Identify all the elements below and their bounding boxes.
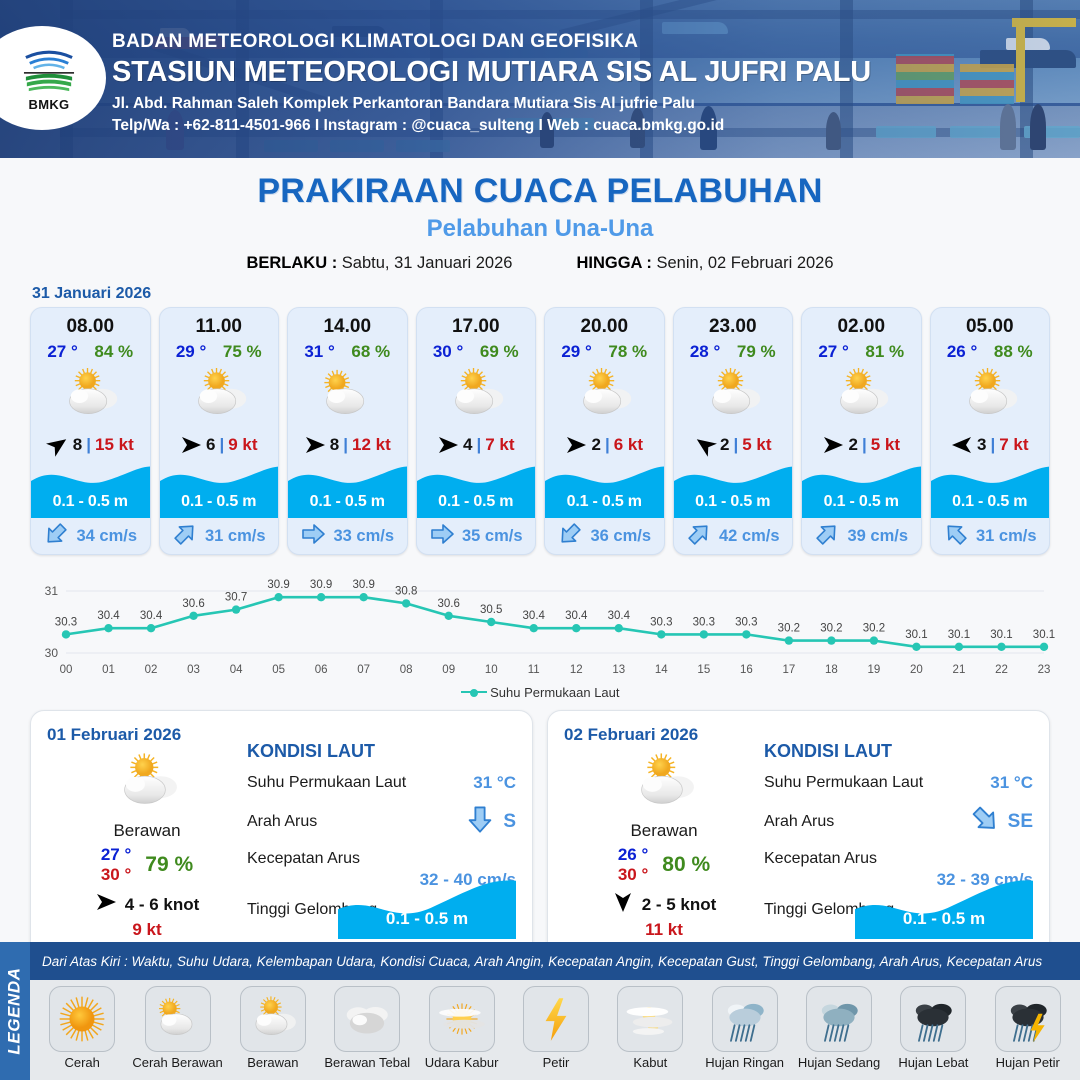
svg-text:01: 01 <box>102 664 115 676</box>
card-temperature: 29 ° <box>561 342 591 362</box>
sea-row-value: 31 °C <box>473 773 516 793</box>
sea-conditions-title: KONDISI LAUT <box>247 741 516 762</box>
header-text-block: BADAN METEOROLOGI KLIMATOLOGI DAN GEOFIS… <box>112 30 871 137</box>
sea-row-label: Kecepatan Arus <box>764 850 877 868</box>
bmkg-logo-mark <box>20 44 78 96</box>
thunderstorm-rain-icon <box>995 986 1061 1052</box>
sea-row-current-direction: Arah Arus SE <box>764 804 1033 839</box>
svg-text:23: 23 <box>1038 664 1051 676</box>
card-current: 34 cm/s <box>31 518 150 554</box>
legend-item: Hujan Sedang <box>795 986 883 1070</box>
legend-sidebar-label: LEGENDA <box>5 967 25 1054</box>
current-direction-arrow-icon <box>557 521 583 552</box>
svg-text:30.4: 30.4 <box>140 610 163 622</box>
legend-item-label: Berawan Tebal <box>324 1055 410 1070</box>
current-speed-value: 31 cm/s <box>205 527 266 546</box>
sea-row-sst: Suhu Permukaan Laut 31 °C <box>764 773 1033 793</box>
hingga: HINGGA : Senin, 02 Februari 2026 <box>576 254 833 273</box>
berlaku-label: BERLAKU : <box>246 254 337 272</box>
chart-legend-label: Suhu Permukaan Laut <box>490 685 619 700</box>
clouds-icon <box>334 986 400 1052</box>
current-speed-value: 42 cm/s <box>719 527 780 546</box>
weather-icon <box>288 362 407 428</box>
card-time: 11.00 <box>160 308 279 338</box>
legend-item: Hujan Petir <box>984 986 1072 1070</box>
card-current: 31 cm/s <box>160 518 279 554</box>
day-temp-max: 30 ° <box>101 865 131 885</box>
moderate-rain-icon <box>806 986 872 1052</box>
weather-icon <box>160 362 279 428</box>
wind-gust-value: 9 kt <box>228 435 257 455</box>
svg-text:20: 20 <box>910 664 923 676</box>
card-current: 33 cm/s <box>288 518 407 554</box>
svg-text:00: 00 <box>60 664 73 676</box>
card-temp-hum: 27 ° 84 % <box>31 338 150 362</box>
day-temp-min: 27 ° <box>101 845 131 865</box>
sea-row-sst: Suhu Permukaan Laut 31 °C <box>247 773 516 793</box>
wind-direction-arrow-icon <box>951 436 973 454</box>
svg-text:30.6: 30.6 <box>182 598 204 610</box>
agency-name: BADAN METEOROLOGI KLIMATOLOGI DAN GEOFIS… <box>112 30 871 54</box>
sea-row-label: Arah Arus <box>764 813 834 831</box>
sea-row-label: Kecepatan Arus <box>247 850 360 868</box>
day-wave-block: 0.1 - 0.5 m <box>338 877 516 939</box>
day-card-right: KONDISI LAUT Suhu Permukaan Laut 31 °C A… <box>247 725 516 941</box>
weather-icon <box>931 362 1050 428</box>
svg-text:15: 15 <box>697 664 710 676</box>
sea-temperature-chart: 303130.30030.40130.40230.60330.70430.905… <box>20 565 1060 683</box>
heavy-rain-icon <box>900 986 966 1052</box>
card-wind: 2 | 5 kt <box>802 428 921 462</box>
day-temp-max: 30 ° <box>618 865 648 885</box>
wind-gust-value: 7 kt <box>485 435 514 455</box>
svg-text:30.4: 30.4 <box>565 610 588 622</box>
card-humidity: 84 % <box>94 342 133 362</box>
svg-text:30: 30 <box>45 646 59 660</box>
card-temp-hum: 31 ° 68 % <box>288 338 407 362</box>
svg-text:30.4: 30.4 <box>523 610 546 622</box>
current-direction-arrow-icon <box>43 521 69 552</box>
wind-separator: | <box>86 435 91 455</box>
wind-separator: | <box>990 435 995 455</box>
wave-height-value: 0.1 - 0.5 m <box>931 493 1050 511</box>
card-temperature: 27 ° <box>47 342 77 362</box>
wind-gust-value: 7 kt <box>999 435 1028 455</box>
sea-row-value: 31 °C <box>990 773 1033 793</box>
current-speed-value: 34 cm/s <box>76 527 137 546</box>
day-wind: 2 - 5 knot <box>564 893 764 916</box>
svg-text:11: 11 <box>528 664 540 676</box>
svg-text:30.9: 30.9 <box>352 579 374 591</box>
card-time: 14.00 <box>288 308 407 338</box>
station-name: STASIUN METEOROLOGI MUTIARA SIS AL JUFRI… <box>112 55 871 89</box>
card-wave: 0.1 - 0.5 m <box>802 462 921 518</box>
day-weather-icon <box>564 747 764 819</box>
wind-direction-value: 4 <box>463 435 472 455</box>
day-wave-value: 0.1 - 0.5 m <box>338 909 516 929</box>
card-wind: 2 | 6 kt <box>545 428 664 462</box>
wind-separator: | <box>219 435 224 455</box>
legend-items-row: Cerah Cerah Berawan <box>30 980 1080 1080</box>
svg-text:30.9: 30.9 <box>267 579 289 591</box>
svg-text:09: 09 <box>442 664 455 676</box>
card-temperature: 29 ° <box>176 342 206 362</box>
legend-item-label: Udara Kabur <box>425 1055 499 1070</box>
legend-item: Hujan Lebat <box>889 986 977 1070</box>
svg-text:06: 06 <box>315 664 328 676</box>
sea-row-current-direction: Arah Arus S <box>247 804 516 839</box>
current-direction-arrow-icon <box>300 521 326 552</box>
svg-text:30.1: 30.1 <box>1033 629 1055 641</box>
legend-item-label: Hujan Sedang <box>798 1055 880 1070</box>
card-wind: 2 | 5 kt <box>674 428 793 462</box>
forecast-card: 02.00 27 ° 81 % 2 | 5 kt 0 <box>801 307 922 555</box>
card-humidity: 69 % <box>480 342 519 362</box>
forecast-card: 14.00 31 ° 68 % 8 | 12 kt <box>287 307 408 555</box>
legend-item: Berawan Tebal <box>323 986 411 1070</box>
card-temperature: 28 ° <box>690 342 720 362</box>
current-direction-arrow-icon <box>814 521 840 552</box>
card-current: 42 cm/s <box>674 518 793 554</box>
wind-separator: | <box>605 435 610 455</box>
card-time: 08.00 <box>31 308 150 338</box>
sea-conditions-title: KONDISI LAUT <box>764 741 1033 762</box>
wind-direction-arrow-icon <box>565 436 587 454</box>
legend-item-label: Hujan Petir <box>996 1055 1060 1070</box>
card-time: 17.00 <box>417 308 536 338</box>
current-direction-arrow-icon <box>970 804 1000 839</box>
svg-text:30.3: 30.3 <box>735 616 757 628</box>
wind-direction-arrow-icon <box>304 436 326 454</box>
validity-period: BERLAKU : Sabtu, 31 Januari 2026 HINGGA … <box>0 254 1080 273</box>
forecast-card: 23.00 28 ° 79 % 2 | 5 kt 0 <box>673 307 794 555</box>
card-wave: 0.1 - 0.5 m <box>160 462 279 518</box>
day-temp-min: 26 ° <box>618 845 648 865</box>
svg-text:02: 02 <box>145 664 158 676</box>
legend-item-label: Cerah Berawan <box>132 1055 222 1070</box>
day-date: 02 Februari 2026 <box>564 725 764 745</box>
svg-text:12: 12 <box>570 664 583 676</box>
station-address: Jl. Abd. Rahman Saleh Komplek Perkantora… <box>112 93 871 115</box>
sea-row-label: Arah Arus <box>247 813 317 831</box>
legend-item-label: Cerah <box>64 1055 99 1070</box>
svg-text:30.1: 30.1 <box>990 629 1012 641</box>
day-date: 01 Februari 2026 <box>47 725 247 745</box>
card-humidity: 78 % <box>608 342 647 362</box>
card-time: 23.00 <box>674 308 793 338</box>
station-contact: Telp/Wa : +62-811-4501-966 I Instagram :… <box>112 115 871 137</box>
current-speed-value: 35 cm/s <box>462 527 523 546</box>
wind-direction-value: 2 <box>591 435 600 455</box>
legend-item: Berawan <box>229 986 317 1070</box>
card-wave: 0.1 - 0.5 m <box>931 462 1050 518</box>
svg-text:30.2: 30.2 <box>820 623 842 635</box>
card-temp-hum: 28 ° 79 % <box>674 338 793 362</box>
current-speed-value: 31 cm/s <box>976 527 1037 546</box>
legend-item: Cerah <box>38 986 126 1070</box>
card-temp-hum: 26 ° 88 % <box>931 338 1050 362</box>
forecast-card: 08.00 27 ° 84 % 8 | 15 kt <box>30 307 151 555</box>
day-wind-direction-arrow-icon <box>95 893 117 916</box>
day-temps: 26 ° 30 ° 80 % <box>564 845 764 885</box>
svg-text:17: 17 <box>782 664 795 676</box>
card-humidity: 68 % <box>351 342 390 362</box>
day-forecast-card: 02 Februari 2026 Berawan 26 ° 30 ° 80 % <box>547 710 1050 956</box>
wave-height-value: 0.1 - 0.5 m <box>674 493 793 511</box>
legend-item: Cerah Berawan <box>132 986 222 1070</box>
day-card-right: KONDISI LAUT Suhu Permukaan Laut 31 °C A… <box>764 725 1033 941</box>
wind-separator: | <box>733 435 738 455</box>
svg-text:30.2: 30.2 <box>778 623 800 635</box>
berlaku: BERLAKU : Sabtu, 31 Januari 2026 <box>246 254 512 273</box>
port-name: Pelabuhan Una-Una <box>0 215 1080 243</box>
wind-gust-value: 15 kt <box>95 435 134 455</box>
day-wave-block: 0.1 - 0.5 m <box>855 877 1033 939</box>
sea-row-current-speed: Kecepatan Arus <box>247 850 516 868</box>
wind-direction-value: 3 <box>977 435 986 455</box>
sea-row-label: Suhu Permukaan Laut <box>764 774 923 792</box>
card-current: 36 cm/s <box>545 518 664 554</box>
card-wind: 6 | 9 kt <box>160 428 279 462</box>
card-temperature: 30 ° <box>433 342 463 362</box>
card-time: 20.00 <box>545 308 664 338</box>
day-condition: Berawan <box>564 821 764 841</box>
svg-text:19: 19 <box>868 664 881 676</box>
current-direction-arrow-icon <box>943 521 969 552</box>
legend-item: Kabut <box>606 986 694 1070</box>
wave-height-value: 0.1 - 0.5 m <box>160 493 279 511</box>
svg-text:30.3: 30.3 <box>55 616 77 628</box>
card-wave: 0.1 - 0.5 m <box>674 462 793 518</box>
day-wind: 4 - 6 knot <box>47 893 247 916</box>
svg-text:31: 31 <box>45 584 59 598</box>
haze-sun-icon <box>429 986 495 1052</box>
card-humidity: 79 % <box>737 342 776 362</box>
day-wind-direction-arrow-icon <box>612 893 634 916</box>
card-temp-hum: 27 ° 81 % <box>802 338 921 362</box>
legend-item: Udara Kabur <box>417 986 505 1070</box>
wave-height-value: 0.1 - 0.5 m <box>31 493 150 511</box>
forecast-date-label: 31 Januari 2026 <box>32 285 1080 303</box>
wind-separator: | <box>862 435 867 455</box>
wind-direction-value: 8 <box>73 435 82 455</box>
chart-legend: Suhu Permukaan Laut <box>0 685 1080 700</box>
wind-gust-value: 5 kt <box>742 435 771 455</box>
svg-text:30.2: 30.2 <box>863 623 885 635</box>
wind-direction-arrow-icon <box>180 436 202 454</box>
day-wind-speed: 4 - 6 knot <box>125 895 200 915</box>
card-humidity: 75 % <box>223 342 262 362</box>
current-direction-arrow-icon <box>172 521 198 552</box>
forecast-infographic: BMKG BADAN METEOROLOGI KLIMATOLOGI DAN G… <box>0 0 1080 1080</box>
wave-height-value: 0.1 - 0.5 m <box>417 493 536 511</box>
wind-direction-value: 6 <box>206 435 215 455</box>
legend-item-label: Petir <box>543 1055 570 1070</box>
card-wind: 4 | 7 kt <box>417 428 536 462</box>
current-speed-value: 36 cm/s <box>590 527 651 546</box>
wave-height-value: 0.1 - 0.5 m <box>802 493 921 511</box>
svg-text:07: 07 <box>357 664 370 676</box>
day-humidity: 80 % <box>662 853 710 877</box>
forecast-card: 05.00 26 ° 88 % 3 | 7 kt 0 <box>930 307 1051 555</box>
day-card-left: 02 Februari 2026 Berawan 26 ° 30 ° 80 % <box>564 725 764 941</box>
chart-canvas: 303130.30030.40130.40230.60330.70430.905… <box>20 565 1060 683</box>
card-temp-hum: 30 ° 69 % <box>417 338 536 362</box>
hingga-label: HINGGA : <box>576 254 651 272</box>
current-direction-arrow-icon <box>465 804 495 839</box>
svg-text:30.7: 30.7 <box>225 592 247 604</box>
current-direction-arrow-icon <box>686 521 712 552</box>
hingga-value: Senin, 02 Februari 2026 <box>657 254 834 272</box>
svg-text:30.3: 30.3 <box>650 616 672 628</box>
wind-gust-value: 6 kt <box>614 435 643 455</box>
berlaku-value: Sabtu, 31 Januari 2026 <box>342 254 513 272</box>
light-rain-icon <box>712 986 778 1052</box>
bmkg-logo-text: BMKG <box>29 97 70 112</box>
card-current: 39 cm/s <box>802 518 921 554</box>
wind-separator: | <box>343 435 348 455</box>
card-time: 05.00 <box>931 308 1050 338</box>
wave-height-value: 0.1 - 0.5 m <box>545 493 664 511</box>
card-time: 02.00 <box>802 308 921 338</box>
svg-text:30.4: 30.4 <box>97 610 120 622</box>
wind-separator: | <box>476 435 481 455</box>
fog-icon <box>617 986 683 1052</box>
day-humidity: 79 % <box>145 853 193 877</box>
card-temperature: 31 ° <box>304 342 334 362</box>
forecast-card: 17.00 30 ° 69 % 4 | 7 kt 0 <box>416 307 537 555</box>
svg-text:04: 04 <box>230 664 243 676</box>
lightning-icon <box>523 986 589 1052</box>
day-gust: 9 kt <box>47 920 247 940</box>
day-wind-speed: 2 - 5 knot <box>642 895 717 915</box>
day-forecast-card: 01 Februari 2026 Berawan 27 ° 30 ° 79 % <box>30 710 533 956</box>
svg-text:30.3: 30.3 <box>693 616 715 628</box>
card-wave: 0.1 - 0.5 m <box>288 462 407 518</box>
svg-text:03: 03 <box>187 664 200 676</box>
cloud-sun-icon <box>240 986 306 1052</box>
wind-gust-value: 5 kt <box>871 435 900 455</box>
wind-direction-value: 2 <box>848 435 857 455</box>
svg-text:30.6: 30.6 <box>438 598 460 610</box>
card-current: 31 cm/s <box>931 518 1050 554</box>
weather-icon <box>417 362 536 428</box>
card-wave: 0.1 - 0.5 m <box>417 462 536 518</box>
legend-item-label: Berawan <box>247 1055 298 1070</box>
svg-text:30.9: 30.9 <box>310 579 332 591</box>
weather-icon <box>31 362 150 428</box>
svg-text:05: 05 <box>272 664 285 676</box>
card-wind: 3 | 7 kt <box>931 428 1050 462</box>
card-wave: 0.1 - 0.5 m <box>545 462 664 518</box>
svg-text:21: 21 <box>953 664 966 676</box>
card-humidity: 81 % <box>865 342 904 362</box>
weather-icon <box>674 362 793 428</box>
day-wave-value: 0.1 - 0.5 m <box>855 909 1033 929</box>
wind-direction-arrow-icon <box>437 436 459 454</box>
wind-direction-arrow-icon <box>47 436 69 454</box>
sea-row-label: Suhu Permukaan Laut <box>247 774 406 792</box>
card-temperature: 26 ° <box>947 342 977 362</box>
card-wind: 8 | 15 kt <box>31 428 150 462</box>
sea-row-value: SE <box>1008 811 1033 833</box>
forecast-card: 20.00 29 ° 78 % 2 | 6 kt 0 <box>544 307 665 555</box>
page-header: BMKG BADAN METEOROLOGI KLIMATOLOGI DAN G… <box>0 0 1080 158</box>
svg-text:10: 10 <box>485 664 498 676</box>
svg-text:16: 16 <box>740 664 753 676</box>
wind-direction-arrow-icon <box>694 436 716 454</box>
title-block: PRAKIRAAN CUACA PELABUHAN Pelabuhan Una-… <box>0 172 1080 273</box>
current-speed-value: 33 cm/s <box>333 527 394 546</box>
day-weather-icon <box>47 747 247 819</box>
card-humidity: 88 % <box>994 342 1033 362</box>
sea-row-current-speed: Kecepatan Arus <box>764 850 1033 868</box>
card-temperature: 27 ° <box>818 342 848 362</box>
weather-icon <box>545 362 664 428</box>
legend-item-label: Kabut <box>633 1055 667 1070</box>
legend-sidebar: LEGENDA <box>0 942 30 1080</box>
current-direction-arrow-icon <box>429 521 455 552</box>
wind-direction-arrow-icon <box>822 436 844 454</box>
card-wave: 0.1 - 0.5 m <box>31 462 150 518</box>
page-title: PRAKIRAAN CUACA PELABUHAN <box>0 172 1080 211</box>
hourly-forecast-row: 08.00 27 ° 84 % 8 | 15 kt <box>0 307 1080 555</box>
svg-text:30.5: 30.5 <box>480 604 502 616</box>
svg-text:30.1: 30.1 <box>905 629 927 641</box>
day-condition: Berawan <box>47 821 247 841</box>
current-speed-value: 39 cm/s <box>847 527 908 546</box>
svg-text:18: 18 <box>825 664 838 676</box>
card-current: 35 cm/s <box>417 518 536 554</box>
wind-gust-value: 12 kt <box>352 435 391 455</box>
weather-icon <box>802 362 921 428</box>
legend-item-label: Hujan Lebat <box>898 1055 968 1070</box>
legend-note: Dari Atas Kiri : Waktu, Suhu Udara, Kele… <box>30 942 1080 980</box>
sea-row-value: S <box>503 811 516 833</box>
legend-item: Petir <box>512 986 600 1070</box>
wind-direction-value: 2 <box>720 435 729 455</box>
svg-text:08: 08 <box>400 664 413 676</box>
card-wind: 8 | 12 kt <box>288 428 407 462</box>
svg-text:22: 22 <box>995 664 1008 676</box>
legend-item-label: Hujan Ringan <box>705 1055 784 1070</box>
sun-icon <box>49 986 115 1052</box>
wave-height-value: 0.1 - 0.5 m <box>288 493 407 511</box>
chart-legend-marker <box>461 691 487 693</box>
legend-item: Hujan Ringan <box>700 986 788 1070</box>
svg-text:30.4: 30.4 <box>608 610 631 622</box>
card-temp-hum: 29 ° 75 % <box>160 338 279 362</box>
wind-direction-value: 8 <box>330 435 339 455</box>
daily-forecast-row: 01 Februari 2026 Berawan 27 ° 30 ° 79 % <box>0 700 1080 956</box>
sun-cloud-icon <box>145 986 211 1052</box>
card-temp-hum: 29 ° 78 % <box>545 338 664 362</box>
day-card-left: 01 Februari 2026 Berawan 27 ° 30 ° 79 % <box>47 725 247 941</box>
svg-text:30.1: 30.1 <box>948 629 970 641</box>
svg-text:13: 13 <box>612 664 625 676</box>
day-temps: 27 ° 30 ° 79 % <box>47 845 247 885</box>
svg-text:14: 14 <box>655 664 668 676</box>
forecast-card: 11.00 29 ° 75 % 6 | 9 kt 0 <box>159 307 280 555</box>
legend-section: LEGENDA Dari Atas Kiri : Waktu, Suhu Uda… <box>0 942 1080 1080</box>
day-gust: 11 kt <box>564 920 764 940</box>
svg-text:30.8: 30.8 <box>395 585 417 597</box>
